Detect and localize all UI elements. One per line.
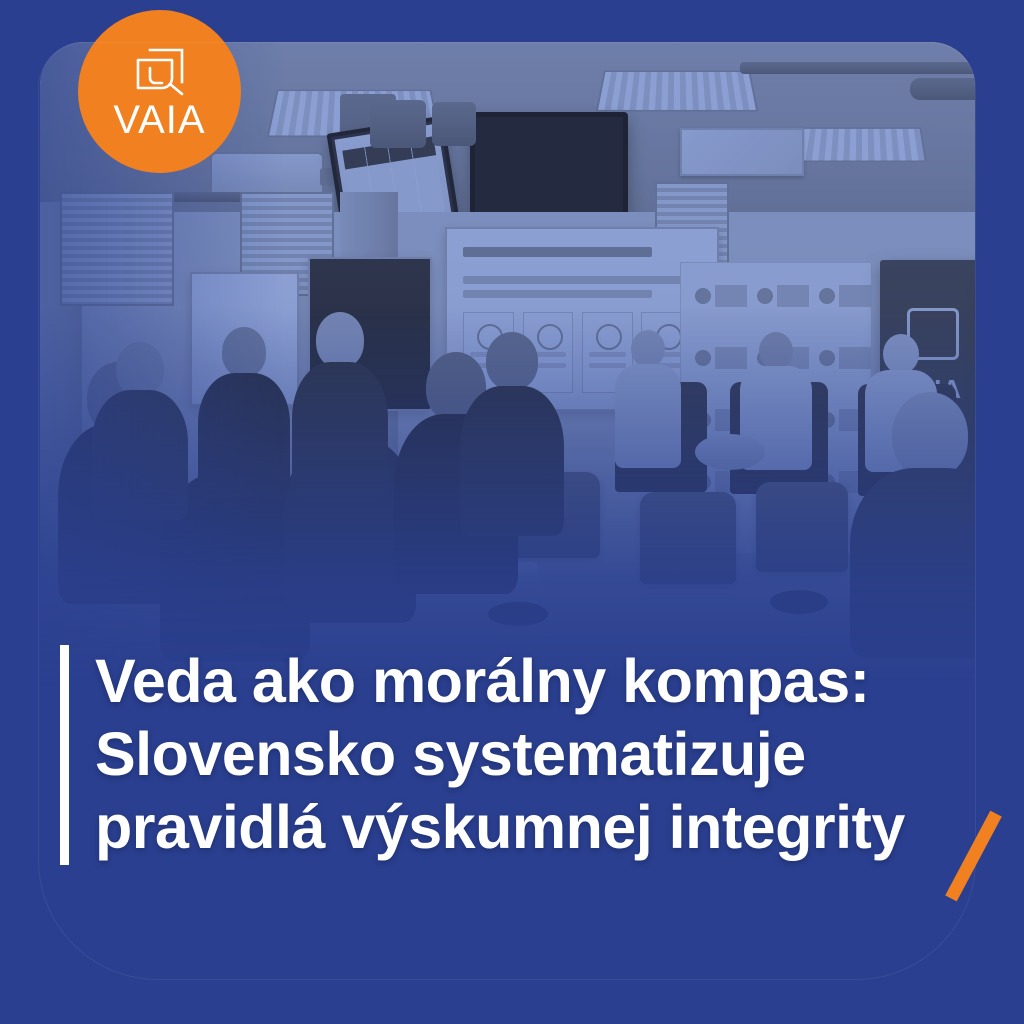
page-title: Veda ako morálny kompas: Slovensko syste… — [95, 645, 905, 865]
headline-line-1: Veda ako morálny kompas: — [95, 645, 905, 718]
headline-line-2: Slovensko systematizuje — [95, 718, 905, 791]
headline-block: Veda ako morálny kompas: Slovensko syste… — [60, 645, 964, 865]
vaia-square-mark-icon — [132, 44, 188, 96]
poster-canvas: VAIA VÝSKUMNÁ A INOVAČNÁ AUTORITA — [0, 0, 1024, 1024]
headline-line-3: pravidlá výskumnej integrity — [95, 791, 905, 864]
headline-rule — [60, 645, 69, 865]
vaia-wordmark: VAIA — [113, 100, 205, 140]
vaia-logo-badge[interactable]: VAIA — [78, 10, 241, 173]
